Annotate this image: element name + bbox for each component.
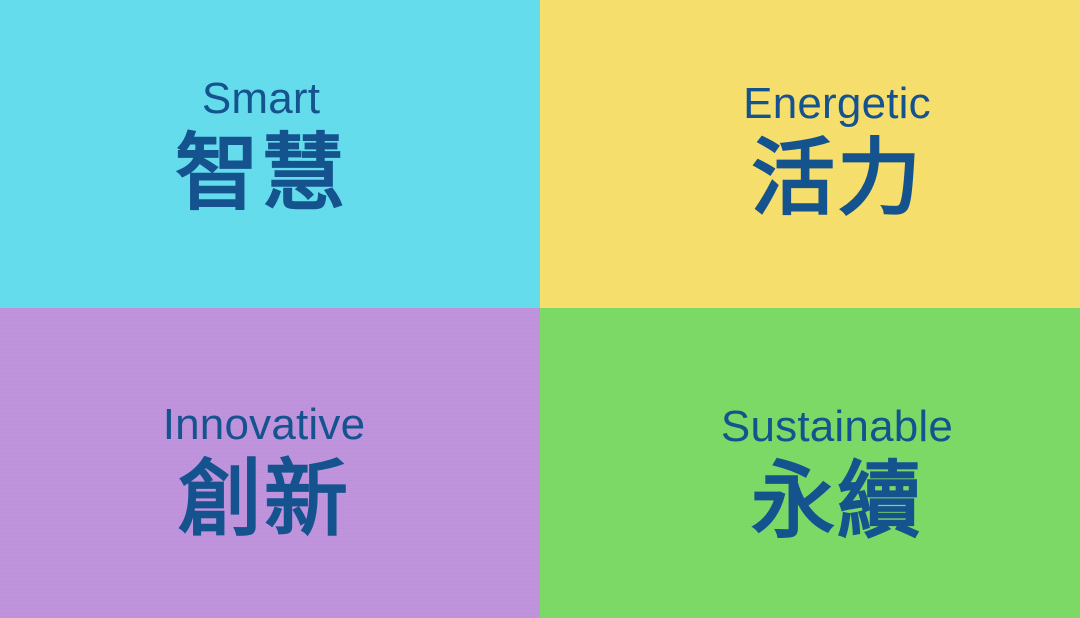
english-label-smart: Smart xyxy=(175,77,347,121)
quadrant-energetic: Energetic 活力 xyxy=(540,0,1080,308)
english-label-innovative: Innovative xyxy=(163,403,366,447)
values-grid: Smart 智慧 Energetic 活力 Innovative 創新 Sust… xyxy=(0,0,1080,618)
english-label-energetic: Energetic xyxy=(743,82,931,126)
label-stack-smart: Smart 智慧 xyxy=(175,77,347,218)
chinese-label-smart: 智慧 xyxy=(175,129,347,218)
quadrant-smart: Smart 智慧 xyxy=(0,0,540,308)
quadrant-sustainable: Sustainable 永續 xyxy=(540,308,1080,618)
chinese-label-innovative: 創新 xyxy=(163,455,366,544)
label-stack-sustainable: Sustainable 永續 xyxy=(721,405,953,546)
label-stack-innovative: Innovative 創新 xyxy=(163,403,366,544)
quadrant-innovative: Innovative 創新 xyxy=(0,308,540,618)
english-label-sustainable: Sustainable xyxy=(721,405,953,449)
chinese-label-sustainable: 永續 xyxy=(721,457,953,546)
label-stack-energetic: Energetic 活力 xyxy=(743,82,931,223)
chinese-label-energetic: 活力 xyxy=(743,134,931,223)
